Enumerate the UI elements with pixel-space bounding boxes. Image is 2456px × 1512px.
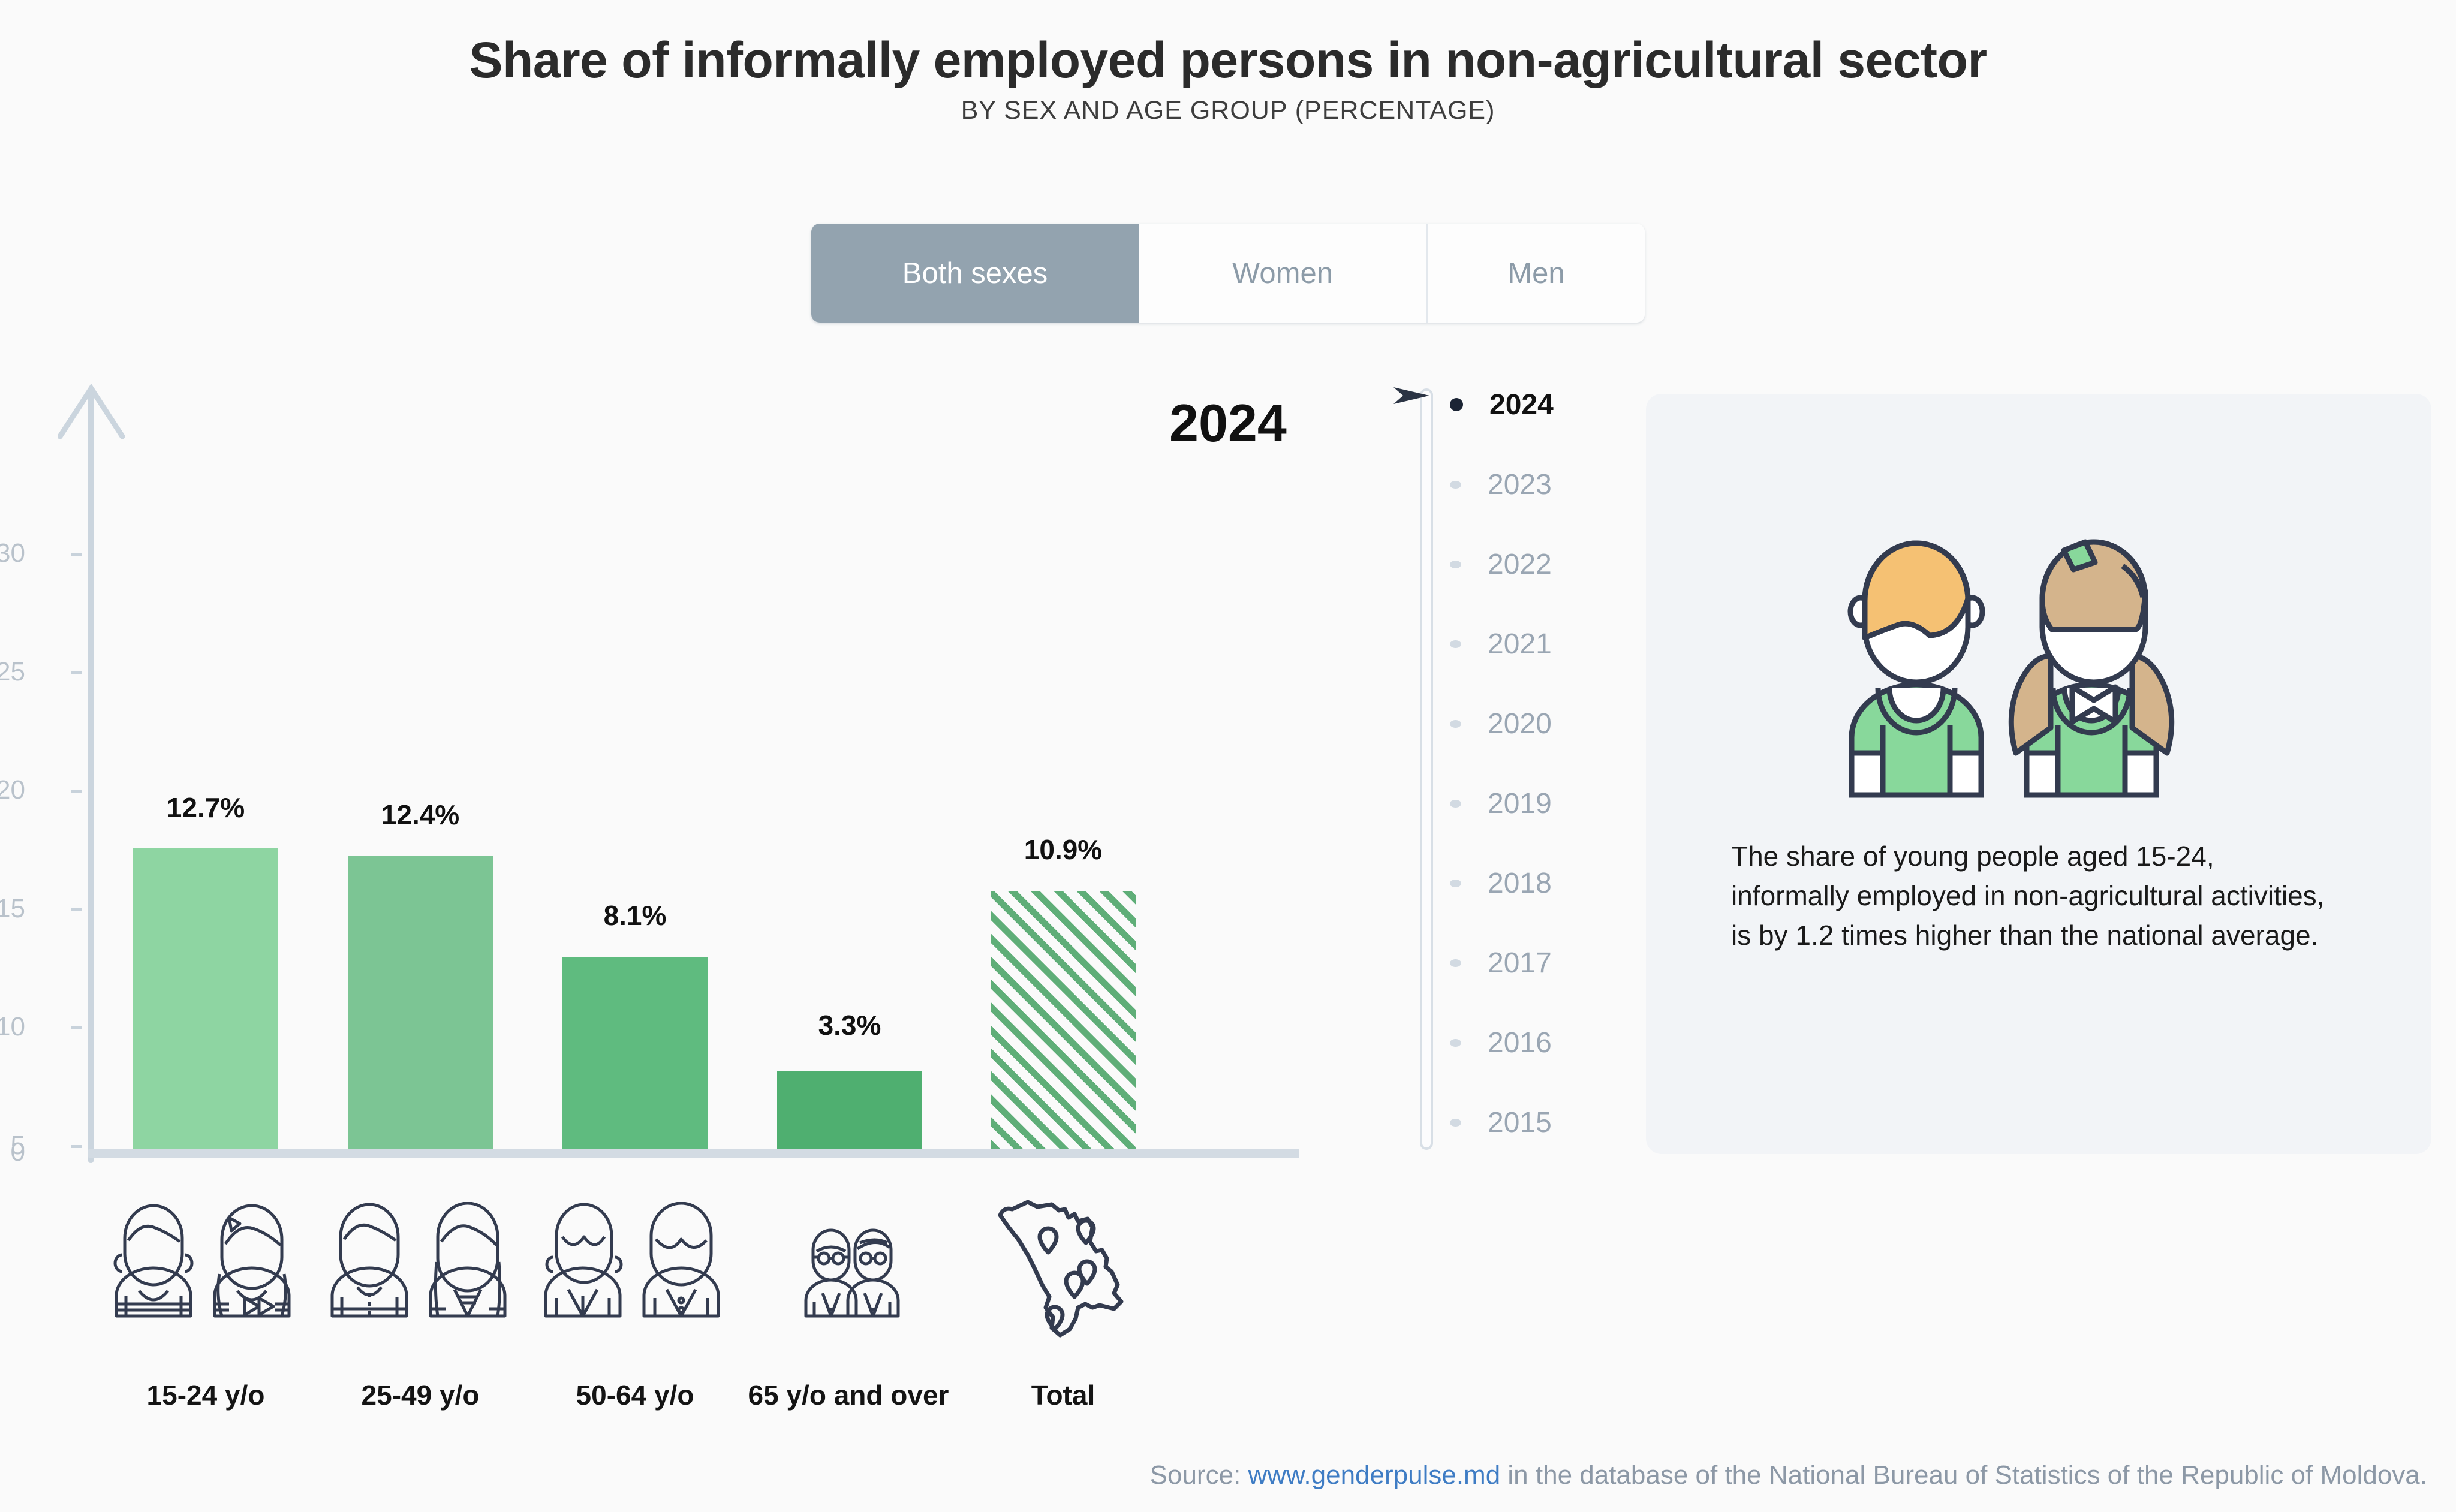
timeline-year-2015[interactable]: 2015 [1450,1105,1552,1140]
y-tick-label-20: 20 [0,775,25,805]
timeline-pointer-icon [1390,379,1447,412]
y-tick-dash-30 [71,553,82,556]
y-tick-label-25: 25 [0,657,25,687]
bar-value-50-64: 8.1% [539,899,731,932]
timeline-dot-2019 [1450,800,1461,808]
y-tick-label-30: 30 [0,538,25,568]
timeline-dot-2015 [1450,1119,1461,1127]
bar-value-total: 10.9% [967,833,1159,866]
source-prefix: Source: [1150,1460,1248,1490]
timeline-dot-2023 [1450,481,1461,489]
timeline-dot-2016 [1450,1039,1461,1047]
bar-total[interactable] [991,891,1136,1149]
moldova-map-icon [994,1184,1144,1341]
x-axis-baseline [88,1149,1299,1158]
bar-65-and-over[interactable] [777,1071,922,1149]
bar-50-64[interactable] [562,957,708,1149]
y-tick-label-15: 15 [0,894,25,924]
bar-15-24[interactable] [133,848,278,1149]
x-label-15-24: 15-24 y/o [110,1379,302,1411]
timeline-year-2020[interactable]: 2020 [1450,706,1552,741]
source-line: Source: www.genderpulse.md in the databa… [1150,1460,2427,1490]
timeline-year-2021[interactable]: 2021 [1450,627,1552,661]
bar-value-65-and-over: 3.3% [754,1009,946,1041]
two-people-illustration [1805,499,2225,799]
timeline-year-2024[interactable]: 2024 [1450,387,1554,422]
x-label-65-and-over: 65 y/o and over [729,1379,968,1411]
y-tick-dash-10 [71,1026,82,1029]
y-tick-dash-15 [71,908,82,911]
x-label-50-64: 50-64 y/o [539,1379,731,1411]
youth-pair-icon [102,1202,312,1334]
insight-text: The share of young people aged 15-24, in… [1731,836,2337,956]
insight-panel: The share of young people aged 15-24, in… [1646,394,2431,1154]
adult-pair-icon [318,1202,528,1334]
timeline-dot-2018 [1450,880,1461,887]
tab-men[interactable]: Men [1428,224,1645,323]
timeline-year-2023[interactable]: 2023 [1450,467,1552,502]
y-tick-label-10: 10 [0,1012,25,1042]
elderly-pair-icon [797,1227,905,1330]
y-tick-dash-5 [71,1145,82,1148]
mature-pair-icon [531,1202,741,1334]
source-suffix: in the database of the National Bureau o… [1500,1460,2427,1490]
category-icon-row [0,1172,1343,1346]
x-label-25-49: 25-49 y/o [324,1379,516,1411]
timeline-year-2017[interactable]: 2017 [1450,945,1552,980]
timeline-dot-2024 [1450,398,1463,411]
tab-both-sexes[interactable]: Both sexes [811,224,1139,323]
source-link[interactable]: www.genderpulse.md [1248,1460,1501,1490]
dashboard-root: Share of informally employed persons in … [0,0,2456,1512]
y-axis-line [88,390,94,1163]
page-subtitle: BY SEX AND AGE GROUP (PERCENTAGE) [0,96,2456,125]
page-title: Share of informally employed persons in … [0,31,2456,89]
bar-chart: 30 25 20 15 10 5 0 12.7% 12.4% 8.1% 3.3%… [0,372,1343,1169]
y-tick-label-0: 0 [0,1137,25,1167]
timeline-year-2018[interactable]: 2018 [1450,866,1552,900]
timeline-dot-2022 [1450,561,1461,568]
timeline-dot-2017 [1450,959,1461,967]
bar-value-15-24: 12.7% [110,791,302,824]
y-tick-dash-20 [71,790,82,793]
timeline-year-2022[interactable]: 2022 [1450,547,1552,582]
timeline-track[interactable] [1420,388,1433,1150]
timeline-dot-2020 [1450,720,1461,728]
bar-value-25-49: 12.4% [324,799,516,831]
tab-women[interactable]: Women [1139,224,1428,323]
sex-filter-tabs: Both sexes Women Men [811,224,1645,323]
bar-25-49[interactable] [348,856,493,1149]
year-timeline: 2024 2023 2022 2021 2020 2019 2018 2017 [1397,384,1613,1157]
y-tick-dash-25 [71,671,82,674]
timeline-year-2019[interactable]: 2019 [1450,786,1552,821]
timeline-dot-2021 [1450,640,1461,648]
timeline-year-2016[interactable]: 2016 [1450,1025,1552,1060]
x-label-total: Total [967,1379,1159,1411]
